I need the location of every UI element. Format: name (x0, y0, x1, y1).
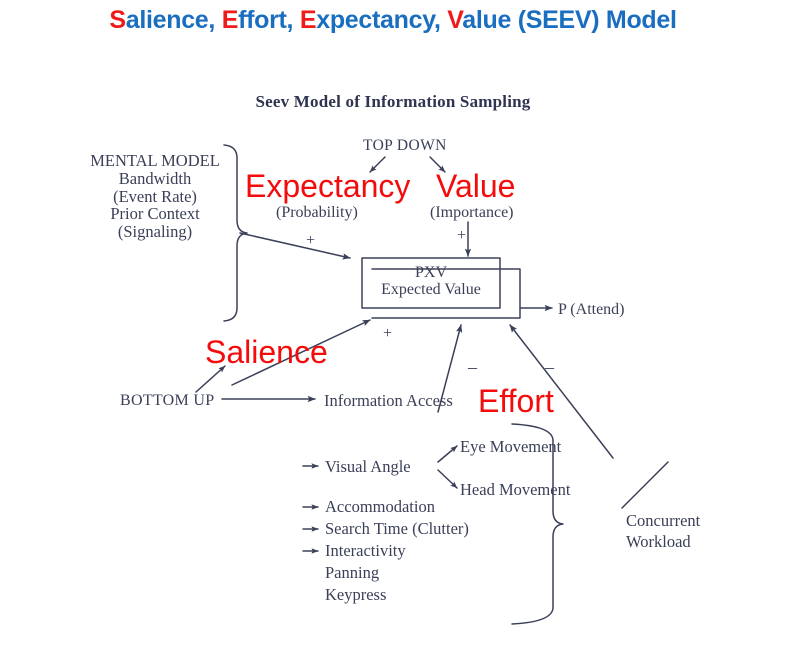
output-label: P (Attend) (558, 301, 625, 318)
mental-model-line: Bandwidth (80, 170, 230, 188)
diagram-subtitle: Seev Model of Information Sampling (0, 92, 786, 112)
salience-label: Salience (205, 336, 328, 368)
plus-sign-expectancy: + (306, 232, 315, 250)
effort-factor-search-time: Search Time (Clutter) (325, 520, 469, 538)
mental-model-line: (Event Rate) (80, 188, 230, 206)
eye-movement-label: Eye Movement (460, 438, 561, 456)
expectancy-label: Expectancy (245, 170, 410, 202)
pxv-box-line2: Expected Value (372, 281, 490, 298)
pxv-box-line1: PXV (372, 264, 490, 281)
mental-model-line: (Signaling) (80, 223, 230, 241)
concurrent-workload-label: Concurrent Workload (626, 510, 700, 552)
expectancy-sublabel: (Probability) (276, 204, 358, 221)
concurrent-workload-line1: Concurrent (626, 510, 700, 531)
effort-factor-keypress: Keypress (325, 586, 386, 604)
page-title: Salience, Effort, Expectancy, Value (SEE… (0, 6, 786, 35)
minus-sign-workload: – (545, 357, 554, 378)
concurrent-workload-leader (622, 462, 668, 508)
visual-angle-to-eye-movement-arrow (438, 446, 457, 462)
mental-model-line: Prior Context (80, 205, 230, 223)
bottom-up-label: BOTTOM UP (120, 392, 214, 409)
pxv-box-label: PXV Expected Value (372, 264, 490, 299)
visual-angle-to-head-movement-arrow (438, 470, 457, 488)
plus-sign-salience: + (383, 325, 392, 343)
minus-sign-effort: – (468, 357, 477, 378)
top-down-label: TOP DOWN (363, 138, 447, 155)
value-sublabel: (Importance) (430, 204, 514, 221)
effort-factor-interactivity: Interactivity (325, 542, 406, 560)
information-access-label: Information Access (324, 392, 453, 410)
plus-sign-value: + (457, 227, 466, 245)
effort-factor-visual-angle: Visual Angle (325, 458, 411, 476)
mental-model-to-pxv-arrow (240, 233, 350, 258)
concurrent-workload-line2: Workload (626, 531, 700, 552)
mental-model-line: MENTAL MODEL (80, 152, 230, 170)
effort-factor-accommodation: Accommodation (325, 498, 435, 516)
value-label: Value (436, 170, 515, 202)
mental-model-block: MENTAL MODEL Bandwidth (Event Rate) Prio… (80, 152, 230, 241)
head-movement-label: Head Movement (460, 481, 570, 499)
effort-label: Effort (478, 385, 554, 417)
effort-factor-panning: Panning (325, 564, 379, 582)
seev-model-slide: Salience, Effort, Expectancy, Value (SEE… (0, 0, 786, 646)
